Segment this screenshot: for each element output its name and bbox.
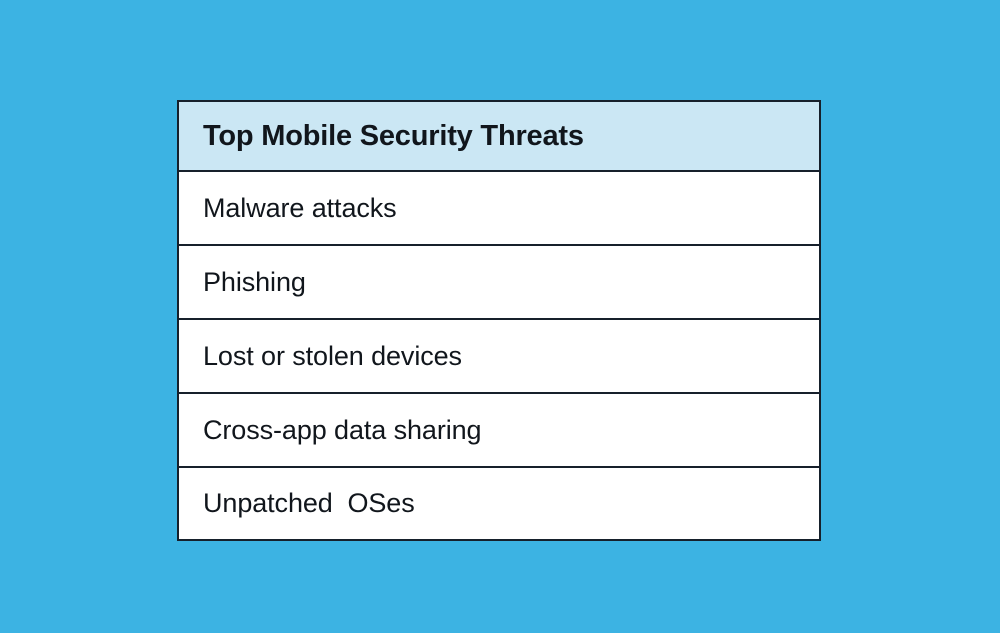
table-row: Malware attacks [179, 172, 819, 246]
threat-table: Top Mobile Security Threats Malware atta… [177, 100, 821, 541]
table-row-label: Lost or stolen devices [203, 343, 462, 370]
table-row: Unpatched OSes [179, 468, 819, 539]
table-header: Top Mobile Security Threats [179, 102, 819, 172]
table-row-label: Cross-app data sharing [203, 417, 481, 444]
table-row: Phishing [179, 246, 819, 320]
table-row: Cross-app data sharing [179, 394, 819, 468]
page-canvas: Top Mobile Security Threats Malware atta… [0, 0, 1000, 633]
table-row-label: Malware attacks [203, 195, 397, 222]
page-title: Top Mobile Security Threats [203, 122, 584, 151]
table-row-label: Unpatched OSes [203, 490, 415, 517]
table-row: Lost or stolen devices [179, 320, 819, 394]
table-row-label: Phishing [203, 269, 306, 296]
